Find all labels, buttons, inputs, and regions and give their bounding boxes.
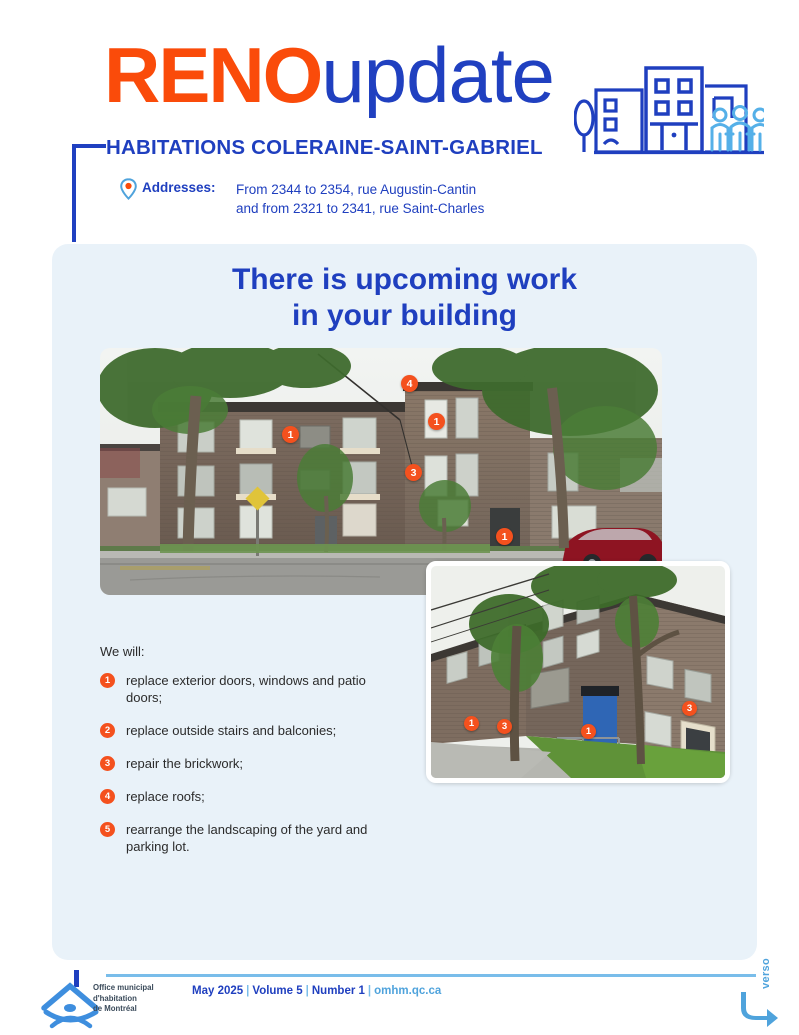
photo-marker: 3 — [405, 464, 422, 481]
meta-separator: | — [243, 985, 252, 997]
org-line-3: de Montréal — [93, 1004, 154, 1015]
building-photo-main: 4 1 1 3 1 — [100, 348, 662, 595]
list-item: 3 repair the brickwork; — [100, 755, 400, 772]
address-label: Addresses: — [142, 180, 216, 195]
publication-logo: RENOupdate — [104, 36, 554, 114]
headline-line-2: in your building — [52, 298, 757, 334]
building-photo-secondary: 1 3 1 3 — [426, 561, 730, 783]
website-link[interactable]: omhm.qc.ca — [374, 985, 441, 997]
title-bracket — [72, 144, 106, 242]
verso-indicator: verso — [762, 958, 792, 1034]
photo-marker: 1 — [464, 716, 479, 731]
list-item-label: replace roofs; — [126, 789, 205, 804]
photo-marker: 1 — [282, 426, 299, 443]
list-item-number: 3 — [100, 756, 115, 771]
meta-separator: | — [303, 985, 312, 997]
list-item-number: 1 — [100, 673, 115, 688]
org-line-1: Office municipal — [93, 983, 154, 994]
address-line-1: From 2344 to 2354, rue Augustin-Cantin — [236, 180, 484, 199]
list-item: 5 rearrange the landscaping of the yard … — [100, 821, 400, 855]
verso-label: verso — [760, 958, 772, 989]
list-item-number: 2 — [100, 723, 115, 738]
footer: Office municipal d'habitation de Montréa… — [0, 960, 799, 1034]
headline-line-1: There is upcoming work — [52, 262, 757, 298]
list-item-label: rearrange the landscaping of the yard an… — [126, 822, 367, 854]
list-item-label: repair the brickwork; — [126, 756, 243, 771]
photo-marker: 1 — [428, 413, 445, 430]
list-item: 4 replace roofs; — [100, 788, 400, 805]
content-card: There is upcoming work in your building — [52, 244, 757, 960]
photo-marker: 3 — [682, 701, 697, 716]
photo-marker: 1 — [496, 528, 513, 545]
issue-date: May 2025 — [192, 985, 243, 997]
page-title: There is upcoming work in your building — [52, 262, 757, 334]
issue-meta: May 2025|Volume 5|Number 1|omhm.qc.ca — [192, 985, 441, 997]
photo-marker: 3 — [497, 719, 512, 734]
masthead: RENOupdate — [0, 0, 799, 235]
photo-marker: 4 — [401, 375, 418, 392]
photo-marker: 1 — [581, 724, 596, 739]
logo-reno-text: RENO — [104, 31, 321, 119]
list-item-number: 4 — [100, 789, 115, 804]
map-pin-icon — [120, 178, 137, 200]
building-cluster-icon — [574, 56, 764, 156]
list-item-number: 5 — [100, 822, 115, 837]
footer-divider — [106, 974, 756, 977]
curved-arrow-right-icon — [740, 988, 780, 1028]
issue-volume: Volume 5 — [252, 985, 302, 997]
organization-name: Office municipal d'habitation de Montréa… — [93, 983, 154, 1015]
page-subtitle: HABITATIONS COLERAINE-SAINT-GABRIEL — [106, 136, 543, 160]
logo-update-text: update — [321, 31, 554, 119]
work-list-intro: We will: — [100, 644, 400, 659]
list-item-label: replace exterior doors, windows and pati… — [126, 673, 366, 705]
address-lines: From 2344 to 2354, rue Augustin-Cantin a… — [236, 180, 484, 218]
org-line-2: d'habitation — [93, 994, 154, 1005]
address-line-2: and from 2321 to 2341, rue Saint-Charles — [236, 199, 484, 218]
meta-separator: | — [365, 985, 374, 997]
work-list: We will: 1 replace exterior doors, windo… — [100, 644, 400, 871]
three-people-icon — [712, 107, 764, 151]
list-item: 2 replace outside stairs and balconies; — [100, 722, 400, 739]
list-item-label: replace outside stairs and balconies; — [126, 723, 336, 738]
list-item: 1 replace exterior doors, windows and pa… — [100, 672, 400, 706]
issue-number: Number 1 — [312, 985, 365, 997]
newsletter-page: RENOupdate — [0, 0, 799, 1034]
